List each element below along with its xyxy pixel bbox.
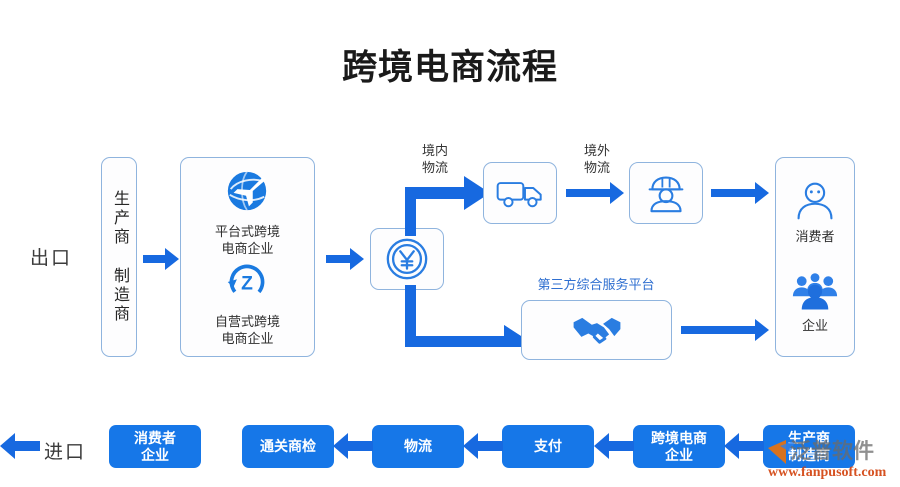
truck-icon <box>496 175 544 211</box>
flowchart-canvas: 跨境电商流程 出口 进口 生产商 制造商 平台式跨境 电商企业 Z <box>0 0 900 487</box>
worker-helmet-icon <box>644 173 688 213</box>
platform-type-marketplace-label: 平台式跨境 电商企业 <box>215 223 280 257</box>
svg-text:Z: Z <box>242 273 254 294</box>
person-icon <box>794 180 836 222</box>
import-arrow-5 <box>724 432 764 460</box>
import-arrow-2 <box>333 432 373 460</box>
z-refresh-icon: Z <box>225 260 269 304</box>
third-party-service-box[interactable] <box>521 300 672 360</box>
import-step-customs-inspection[interactable]: 通关商检 <box>242 425 334 468</box>
import-arrow-4 <box>594 432 634 460</box>
buyer-consumer[interactable]: 消费者 <box>794 180 836 245</box>
arrow-payment-to-domestic-logistics <box>400 176 490 236</box>
export-row-label: 出口 <box>30 243 72 270</box>
arrow-manufacturer-to-platform <box>143 248 179 270</box>
ecommerce-platform-box[interactable]: 平台式跨境 电商企业 Z 自营式跨境 电商企业 <box>180 157 315 357</box>
import-step-logistics[interactable]: 物流 <box>372 425 464 468</box>
handshake-icon <box>571 310 623 350</box>
import-row-label: 进口 <box>44 437 86 464</box>
import-step-payment[interactable]: 支付 <box>502 425 594 468</box>
platform-type-selfoperated-label: 自营式跨境 电商企业 <box>215 313 280 347</box>
overseas-logistics-caption: 境外 物流 <box>567 142 627 176</box>
customs-inspection-box[interactable] <box>629 162 703 224</box>
platform-type-selfoperated[interactable]: Z 自营式跨境 电商企业 <box>215 260 280 347</box>
manufacturer-box[interactable]: 生产商 制造商 <box>101 157 137 357</box>
buyer-enterprise-label: 企业 <box>792 318 838 334</box>
globe-plane-icon <box>224 168 270 214</box>
import-arrow-1 <box>0 432 40 460</box>
import-step-consumer-enterprise[interactable]: 消费者 企业 <box>109 425 201 468</box>
buyers-box[interactable]: 消费者 企业 <box>775 157 855 357</box>
import-arrow-3 <box>463 432 503 460</box>
arrow-third-party-to-buyers <box>681 319 769 341</box>
import-step-manufacturer[interactable]: 生产商 制造商 <box>763 425 855 468</box>
payment-box[interactable] <box>370 228 444 290</box>
yen-coin-icon <box>384 236 430 282</box>
arrow-platform-to-payment <box>326 248 364 270</box>
buyer-consumer-label: 消费者 <box>794 229 836 245</box>
logistics-truck-box[interactable] <box>483 162 557 224</box>
page-title: 跨境电商流程 <box>0 46 900 90</box>
group-people-icon <box>792 269 838 311</box>
arrow-customs-to-buyers <box>711 182 769 204</box>
third-party-caption: 第三方综合服务平台 <box>506 276 686 293</box>
platform-type-marketplace[interactable]: 平台式跨境 电商企业 <box>215 168 280 257</box>
buyer-enterprise[interactable]: 企业 <box>792 269 838 334</box>
arrow-truck-to-customs <box>566 182 624 204</box>
arrow-payment-to-third-party <box>400 285 530 347</box>
manufacturer-label: 生产商 制造商 <box>108 190 130 324</box>
import-step-ecommerce-enterprise[interactable]: 跨境电商 企业 <box>633 425 725 468</box>
domestic-logistics-caption: 境内 物流 <box>405 142 465 176</box>
